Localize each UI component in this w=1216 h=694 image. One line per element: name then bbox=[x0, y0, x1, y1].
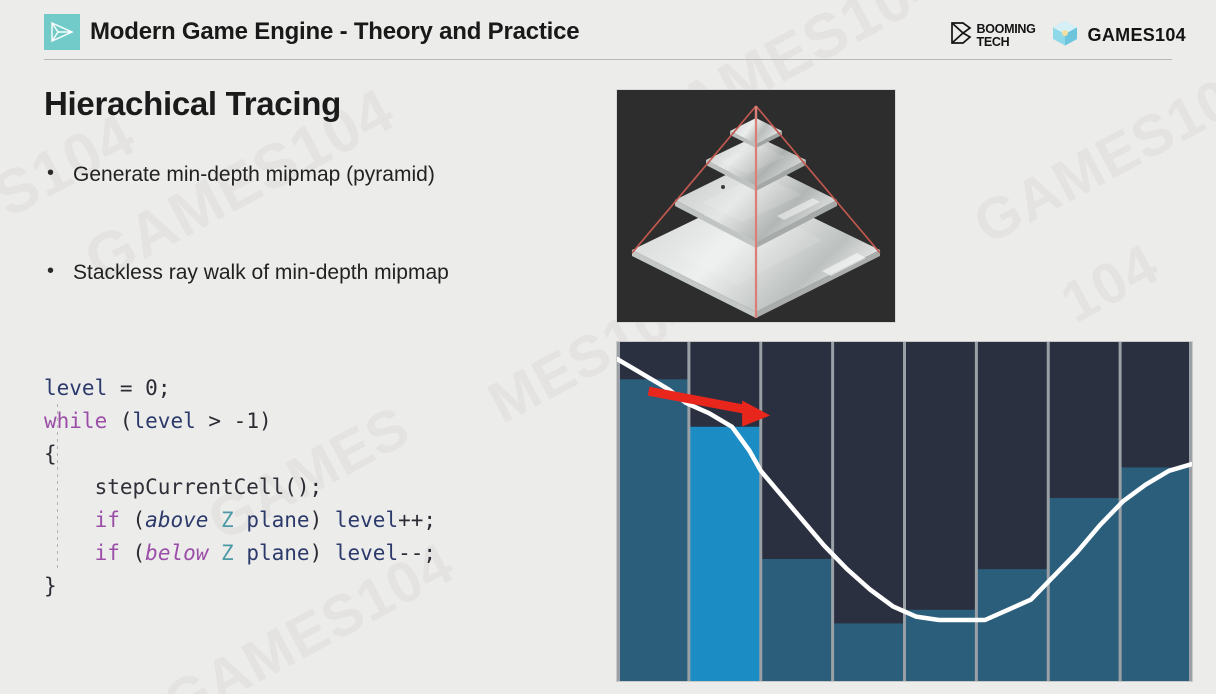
code-token: (); bbox=[284, 475, 322, 499]
code-token: level bbox=[133, 409, 196, 433]
code-line: while (level > -1) bbox=[44, 405, 436, 438]
code-token: ) bbox=[310, 508, 335, 532]
code-token: > bbox=[196, 409, 234, 433]
code-token: while bbox=[44, 409, 107, 433]
mipmap-pyramid-figure bbox=[616, 89, 896, 323]
code-token: } bbox=[44, 574, 57, 598]
code-token: ; bbox=[158, 376, 171, 400]
code-token: plane bbox=[246, 508, 309, 532]
cell-empty-region bbox=[1120, 342, 1192, 467]
cell-min-depth-fill bbox=[1048, 498, 1120, 681]
watermark-text: 104 bbox=[1050, 230, 1170, 336]
code-line: { bbox=[44, 438, 436, 471]
watermark-text: GAMES104 bbox=[963, 49, 1216, 257]
header-title: Modern Game Engine - Theory and Practice bbox=[90, 18, 579, 46]
cell-separator bbox=[975, 342, 978, 681]
code-token: below bbox=[145, 541, 208, 565]
booming-b-icon bbox=[950, 21, 972, 50]
bullet-item: •Stackless ray walk of min-depth mipmap bbox=[44, 260, 594, 286]
code-token: -1 bbox=[234, 409, 259, 433]
code-token: Z bbox=[221, 508, 234, 532]
games104-wordmark: GAMES104 bbox=[1088, 25, 1186, 46]
slide-header: Modern Game Engine - Theory and Practice… bbox=[0, 0, 1216, 66]
code-token bbox=[44, 541, 95, 565]
code-token: ( bbox=[120, 508, 145, 532]
games104-logo: GAMES104 bbox=[1050, 18, 1186, 53]
bullet-list: •Generate min-depth mipmap (pyramid)•Sta… bbox=[44, 162, 594, 359]
code-token: level bbox=[335, 508, 398, 532]
cell-empty-region bbox=[617, 342, 689, 379]
code-token: --; bbox=[398, 541, 436, 565]
bullet-marker-icon: • bbox=[44, 162, 73, 184]
code-line: level = 0; bbox=[44, 372, 436, 405]
cell-empty-region bbox=[761, 342, 833, 559]
cell-empty-region bbox=[976, 342, 1048, 569]
cell-empty-region bbox=[905, 342, 977, 610]
booming-tech-line2: TECH bbox=[977, 36, 1036, 49]
bullet-marker-icon: • bbox=[44, 260, 73, 282]
page-title: Hierachical Tracing bbox=[44, 85, 341, 123]
booming-tech-line1: BOOMING bbox=[977, 23, 1036, 36]
cell-separator bbox=[687, 342, 690, 681]
code-token: if bbox=[95, 508, 120, 532]
code-token bbox=[44, 475, 95, 499]
play-triangle-icon bbox=[44, 14, 80, 50]
code-token: ( bbox=[107, 409, 132, 433]
cell-separator bbox=[903, 342, 906, 681]
code-token bbox=[208, 508, 221, 532]
cell-empty-region bbox=[833, 342, 905, 623]
code-token bbox=[208, 541, 221, 565]
code-token bbox=[234, 508, 247, 532]
bullet-text: Generate min-depth mipmap (pyramid) bbox=[73, 162, 435, 188]
code-token: level bbox=[335, 541, 398, 565]
cell-min-depth-fill bbox=[976, 569, 1048, 681]
min-depth-cells-chart bbox=[616, 341, 1193, 682]
code-token: plane bbox=[246, 541, 309, 565]
cell-min-depth-fill bbox=[761, 559, 833, 681]
code-token: Z bbox=[221, 541, 234, 565]
code-token: level bbox=[44, 376, 107, 400]
code-line: if (above Z plane) level++; bbox=[44, 504, 436, 537]
cell-separator bbox=[759, 342, 762, 681]
code-token: = bbox=[107, 376, 145, 400]
header-divider bbox=[44, 59, 1172, 60]
code-token: { bbox=[44, 442, 57, 466]
cell-separator bbox=[831, 342, 834, 681]
booming-tech-logo: BOOMING TECH bbox=[950, 21, 1036, 50]
code-token: stepCurrentCell bbox=[95, 475, 285, 499]
cell-separator bbox=[617, 342, 620, 681]
cell-min-depth-fill bbox=[689, 427, 761, 681]
bullet-item: •Generate min-depth mipmap (pyramid) bbox=[44, 162, 594, 188]
cell-separator bbox=[1189, 342, 1192, 681]
code-token: if bbox=[95, 541, 120, 565]
brand-logos: BOOMING TECH GAMES104 bbox=[950, 18, 1186, 53]
code-token: ) bbox=[259, 409, 272, 433]
code-line: stepCurrentCell(); bbox=[44, 471, 436, 504]
code-block: level = 0;while (level > -1){ stepCurren… bbox=[44, 372, 436, 603]
cell-min-depth-fill bbox=[833, 623, 905, 681]
code-token: ) bbox=[310, 541, 335, 565]
code-line: } bbox=[44, 570, 436, 603]
cell-min-depth-fill bbox=[617, 379, 689, 681]
code-token: 0 bbox=[145, 376, 158, 400]
code-token: above bbox=[145, 508, 208, 532]
cell-empty-region bbox=[1048, 342, 1120, 498]
cell-separator bbox=[1119, 342, 1122, 681]
cell-min-depth-fill bbox=[1120, 467, 1192, 681]
cube-icon bbox=[1050, 18, 1080, 53]
code-token: ( bbox=[120, 541, 145, 565]
code-token bbox=[234, 541, 247, 565]
code-token bbox=[44, 508, 95, 532]
cell-separator bbox=[1047, 342, 1050, 681]
code-token: ++; bbox=[398, 508, 436, 532]
code-line: if (below Z plane) level--; bbox=[44, 537, 436, 570]
bullet-text: Stackless ray walk of min-depth mipmap bbox=[73, 260, 449, 286]
